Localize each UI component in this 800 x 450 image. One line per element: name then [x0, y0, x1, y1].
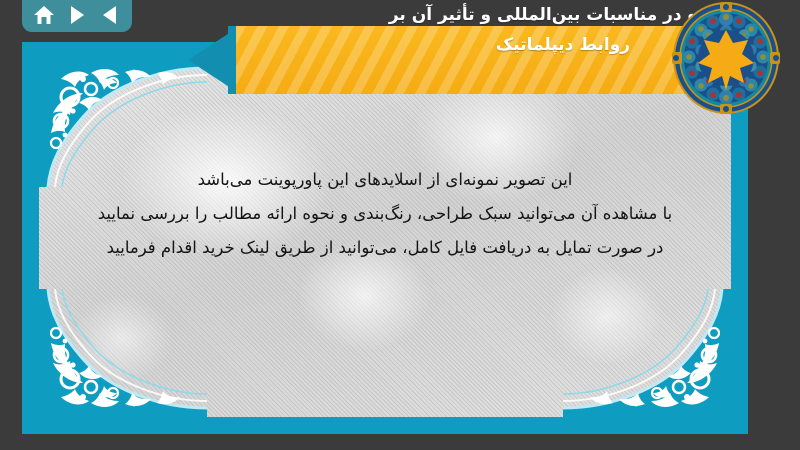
body-line-1: این تصویر نمونه‌ای از اسلایدهای این پاور…: [39, 163, 731, 197]
triangle-right-icon: [71, 6, 84, 24]
previous-slide-button[interactable]: [97, 3, 123, 27]
arabesque-corner-icon: [563, 289, 731, 417]
slide-content-area: این تصویر نمونه‌ای از اسلایدهای این پاور…: [39, 59, 731, 417]
persian-medallion-icon: [672, 2, 780, 114]
body-line-2: با مشاهده آن می‌توانید سبک طراحی، رنگ‌بن…: [39, 197, 731, 231]
home-icon: [33, 5, 55, 25]
slide-viewer: این تصویر نمونه‌ای از اسلایدهای این پاور…: [0, 0, 800, 450]
next-slide-button[interactable]: [64, 3, 90, 27]
home-button[interactable]: [31, 3, 57, 27]
triangle-left-icon: [103, 6, 116, 24]
body-line-3: در صورت تمایل به دریافت فایل کامل، می‌تو…: [39, 231, 731, 265]
arabesque-corner-icon: [39, 289, 207, 417]
slide-navigation-bar: [22, 0, 132, 32]
slide-body-text: این تصویر نمونه‌ای از اسلایدهای این پاور…: [39, 163, 731, 265]
slide-frame: این تصویر نمونه‌ای از اسلایدهای این پاور…: [22, 42, 748, 434]
